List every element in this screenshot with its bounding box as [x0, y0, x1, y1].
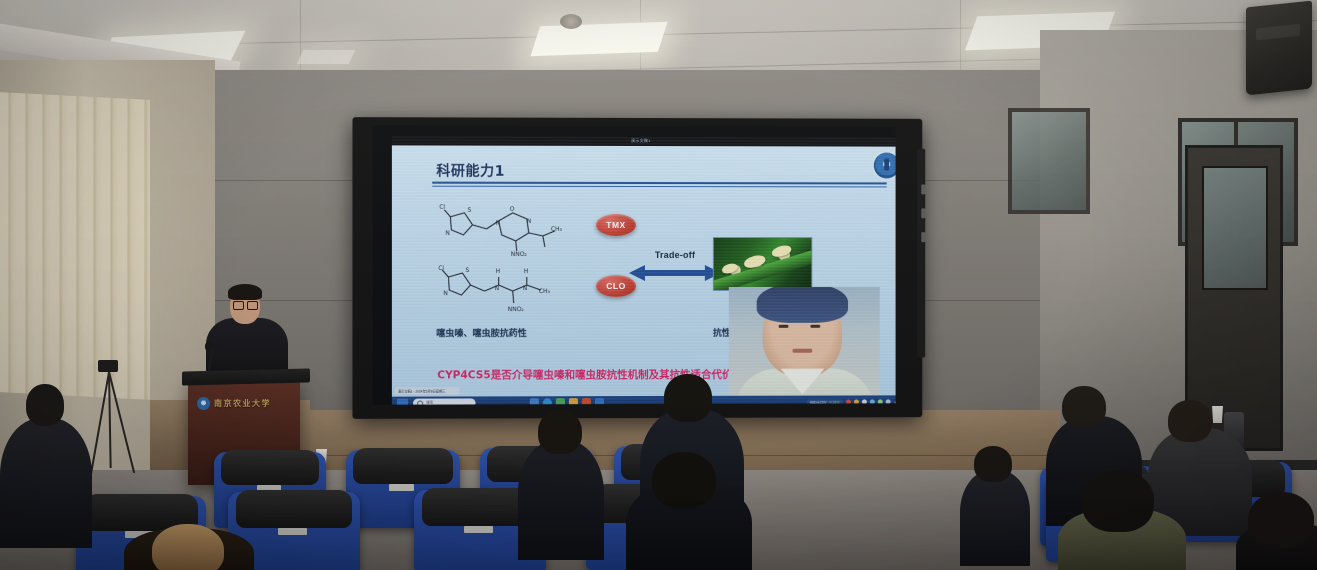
svg-text:N: N: [445, 230, 450, 237]
clothianidin-structure: Cl S N N H N H NNO₂ CH₃: [438, 261, 604, 319]
slide-title: 科研能力1: [436, 161, 505, 181]
svg-text:CH₃: CH₃: [539, 288, 551, 295]
taskbar-tray: AliEyeChV -0.26% 11:04 2024/5/8: [806, 398, 896, 405]
tray-icon[interactable]: [870, 399, 875, 404]
attendee-head: [1062, 386, 1106, 428]
slide-status-text: 演示文稿1 - 2024年5月8日星期三: [398, 388, 446, 393]
seat-number-tag: [278, 528, 307, 535]
svg-text:N: N: [495, 285, 500, 292]
svg-text:NNO₂: NNO₂: [508, 306, 525, 313]
taskbar-app-icons: [530, 398, 604, 405]
door-window: [1202, 166, 1268, 290]
seat-headrest: [221, 450, 320, 485]
university-emblem-icon: [874, 153, 896, 179]
tray-icon[interactable]: [878, 399, 883, 404]
presenter-hair: [228, 284, 262, 300]
wechat-icon[interactable]: [556, 398, 565, 405]
search-icon: [417, 400, 423, 405]
ceiling-light-panel: [297, 50, 355, 64]
attendee-hair: [152, 524, 224, 570]
clock-date: 2024/5/8: [894, 402, 896, 405]
projection-display[interactable]: 演示文稿1 科研能力1: [352, 117, 922, 419]
attendee-torso: [0, 418, 92, 548]
svg-text:H: H: [496, 268, 501, 275]
attendee-head: [1248, 492, 1314, 548]
tray-icon[interactable]: [886, 399, 891, 404]
tray-icon[interactable]: [854, 399, 859, 404]
attendee-head: [974, 446, 1012, 482]
attendee-head: [664, 374, 712, 422]
svg-text:N: N: [443, 290, 448, 297]
display-indicator: [921, 208, 925, 218]
attendee-head: [1168, 400, 1212, 442]
ticker-label: AliEyeChV: [810, 400, 827, 404]
svg-text:H: H: [524, 268, 529, 275]
folder-icon[interactable]: [569, 398, 578, 405]
svg-text:S: S: [467, 207, 471, 214]
podium-emblem-icon: [197, 397, 210, 410]
attendee-head: [26, 384, 64, 426]
ceiling-speaker-dome: [560, 14, 582, 29]
thiamethoxam-structure: Cl S N O N N NNO₂ CH₃: [438, 199, 604, 261]
file-explorer-icon[interactable]: [530, 398, 539, 404]
participant-mouth: [792, 349, 812, 353]
title-underline-primary: [432, 182, 886, 185]
display-surface: 演示文稿1 科研能力1: [373, 125, 896, 404]
tray-icon[interactable]: [846, 399, 851, 404]
svg-text:Cl: Cl: [439, 204, 445, 211]
meeting-app-icon[interactable]: [595, 398, 604, 405]
tripod-leg: [90, 372, 110, 475]
video-call-participant[interactable]: [729, 287, 880, 405]
window-blinds[interactable]: [0, 92, 150, 400]
svg-text:S: S: [465, 267, 469, 274]
powerpoint-slide[interactable]: 演示文稿1 科研能力1: [392, 136, 896, 404]
ticker-value: -0.26%: [828, 400, 839, 404]
participant-eye: [810, 325, 820, 328]
title-underline-secondary: [432, 186, 886, 188]
side-window: [1008, 108, 1090, 214]
camera-body: [98, 360, 118, 372]
seat-number-tag: [464, 526, 493, 533]
wall-loudspeaker: [1246, 1, 1312, 96]
paper-cup: [1211, 406, 1224, 423]
microphone-head-icon: [205, 342, 212, 351]
attendee-torso: [960, 470, 1030, 566]
attendee-head: [1082, 470, 1154, 532]
seat-headrest: [236, 490, 352, 528]
attendee-head: [538, 410, 582, 454]
window-glass: [1012, 112, 1086, 210]
display-side-bezel: [917, 149, 925, 358]
search-placeholder: 搜索: [426, 401, 433, 405]
eyeglasses-icon: [247, 301, 258, 310]
slide-window-title: 演示文稿1: [631, 138, 651, 144]
speaker-grille: [1256, 24, 1300, 41]
tradeoff-label: Trade-off: [625, 250, 725, 260]
windows-taskbar[interactable]: 搜索 AliEyeChV -0.26%: [392, 395, 896, 404]
eyeglasses-icon: [233, 301, 244, 310]
participant-hair: [757, 287, 848, 323]
attendee-torso: [518, 440, 604, 560]
powerpoint-icon[interactable]: [582, 398, 591, 405]
double-arrow-icon: [629, 264, 721, 287]
svg-text:N: N: [496, 220, 501, 227]
podium-institution-name: 南京农业大学: [214, 398, 271, 409]
svg-text:CH₃: CH₃: [551, 226, 563, 233]
display-indicator: [921, 232, 925, 242]
svg-text:N: N: [523, 285, 528, 292]
ceiling-light-panel: [530, 22, 667, 56]
attendee-head: [652, 452, 716, 508]
presentation-room-photo: 演示文稿1 科研能力1: [0, 0, 1317, 570]
insect-photo: [713, 237, 812, 291]
edge-browser-icon[interactable]: [543, 398, 552, 404]
start-button-icon[interactable]: [397, 399, 408, 405]
seat-number-tag: [389, 484, 414, 490]
participant-eye: [779, 325, 789, 328]
seat-headrest: [353, 448, 453, 484]
tray-icon[interactable]: [862, 399, 867, 404]
svg-text:N: N: [527, 218, 532, 225]
caption-left: 噻虫嗪、噻虫胺抗药性: [436, 326, 527, 339]
taskbar-search-input[interactable]: 搜索: [413, 398, 475, 404]
stock-ticker-widget[interactable]: AliEyeChV -0.26%: [806, 399, 844, 405]
svg-text:NNO₂: NNO₂: [511, 251, 528, 258]
svg-text:Cl: Cl: [438, 265, 444, 272]
slide-status-bar: 演示文稿1 - 2024年5月8日星期三: [395, 387, 460, 394]
taskbar-clock[interactable]: 11:04 2024/5/8: [894, 398, 896, 405]
tripod-leg: [108, 372, 135, 473]
svg-text:O: O: [510, 206, 515, 213]
display-indicator: [921, 184, 925, 194]
tmx-badge: TMX: [596, 214, 636, 236]
